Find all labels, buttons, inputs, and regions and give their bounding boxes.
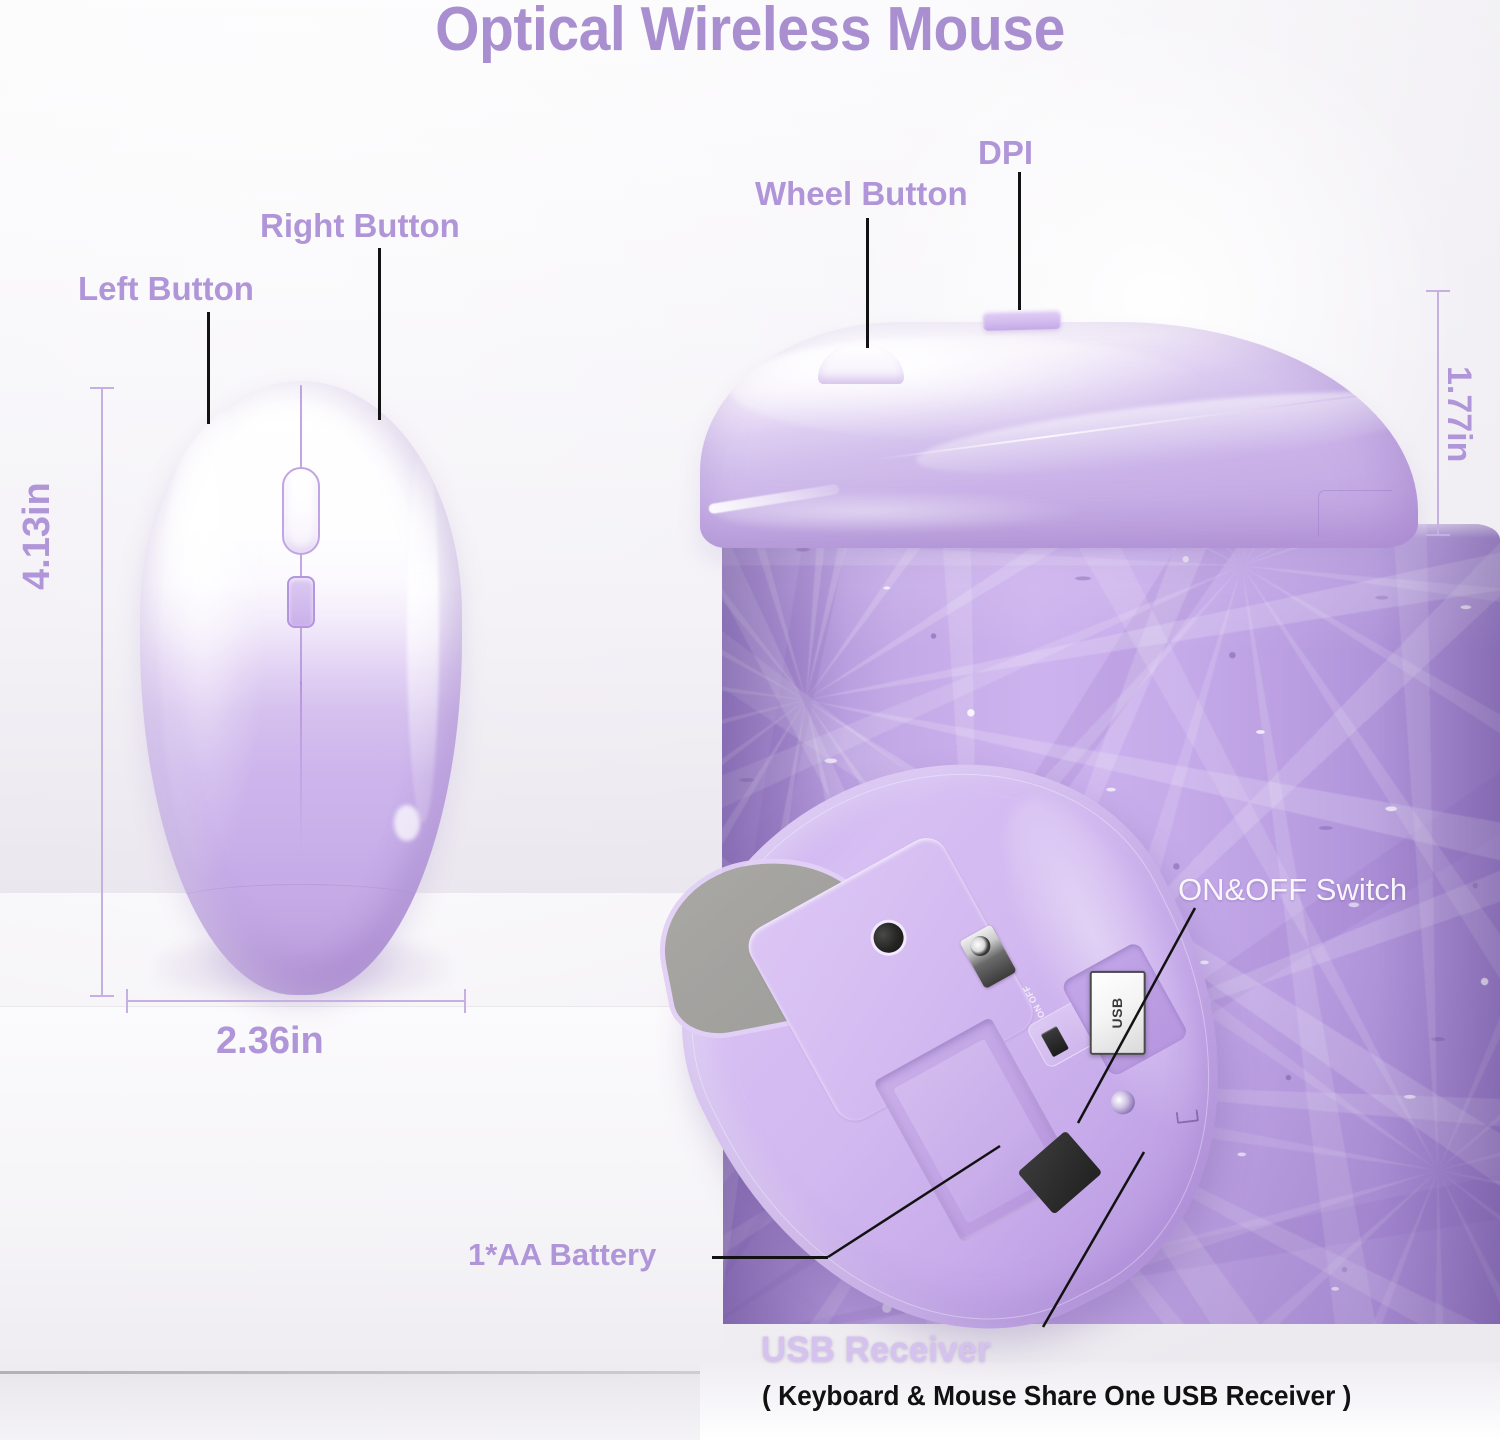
usb-dongle-label: USB bbox=[1110, 997, 1126, 1028]
callout-on-off-switch: ON&OFF Switch bbox=[1178, 872, 1407, 908]
side-view-shell bbox=[700, 322, 1418, 548]
top-view-gloss-spot bbox=[394, 805, 420, 842]
mouse-top-view bbox=[140, 381, 462, 995]
page-title: Optical Wireless Mouse bbox=[60, 0, 1440, 65]
dimension-label-2-36in: 2.36in bbox=[216, 1020, 324, 1063]
foreground-white-panel bbox=[0, 1007, 723, 1375]
top-view-right-gloss bbox=[407, 442, 439, 823]
side-view-back-notch bbox=[1318, 490, 1392, 536]
dimension-label-1-77in: 1.77in bbox=[1439, 366, 1478, 462]
leader-line-right-button bbox=[378, 248, 381, 420]
callout-dpi: DPI bbox=[978, 134, 1033, 172]
dimension-label-4-13in: 4.13in bbox=[16, 482, 59, 590]
bottom-caption: ( Keyboard & Mouse Share One USB Receive… bbox=[762, 1380, 1351, 1412]
callout-right-button: Right Button bbox=[260, 207, 460, 245]
panel-floor bbox=[0, 1374, 723, 1440]
callout-aa-battery: 1*AA Battery bbox=[468, 1237, 656, 1273]
usb-receiver-dongle[interactable]: USB bbox=[1090, 971, 1146, 1055]
dimension-line-height-top-view bbox=[101, 387, 103, 997]
callout-wheel-button: Wheel Button bbox=[755, 175, 968, 213]
top-view-body bbox=[140, 381, 462, 995]
mouse-side-view bbox=[700, 300, 1418, 548]
dimension-line-width-top-view bbox=[126, 1000, 466, 1002]
callout-usb-receiver: USB Receiver bbox=[761, 1330, 991, 1370]
scroll-wheel-top[interactable] bbox=[282, 467, 320, 555]
top-view-left-gloss bbox=[159, 406, 268, 885]
leader-line-dpi bbox=[1018, 172, 1021, 310]
dpi-button-top[interactable] bbox=[287, 576, 315, 628]
leader-line-aa-battery bbox=[712, 1256, 828, 1259]
leader-line-wheel-button bbox=[866, 218, 869, 348]
product-infographic: ON OFF USB 4.13in 2.36in 1.77in Optical … bbox=[0, 0, 1500, 1440]
leader-line-left-button bbox=[207, 312, 210, 424]
callout-left-button: Left Button bbox=[78, 270, 254, 308]
dpi-button-side[interactable] bbox=[983, 309, 1061, 331]
button-split-line-lower bbox=[300, 681, 302, 851]
top-view-seam bbox=[169, 884, 433, 922]
